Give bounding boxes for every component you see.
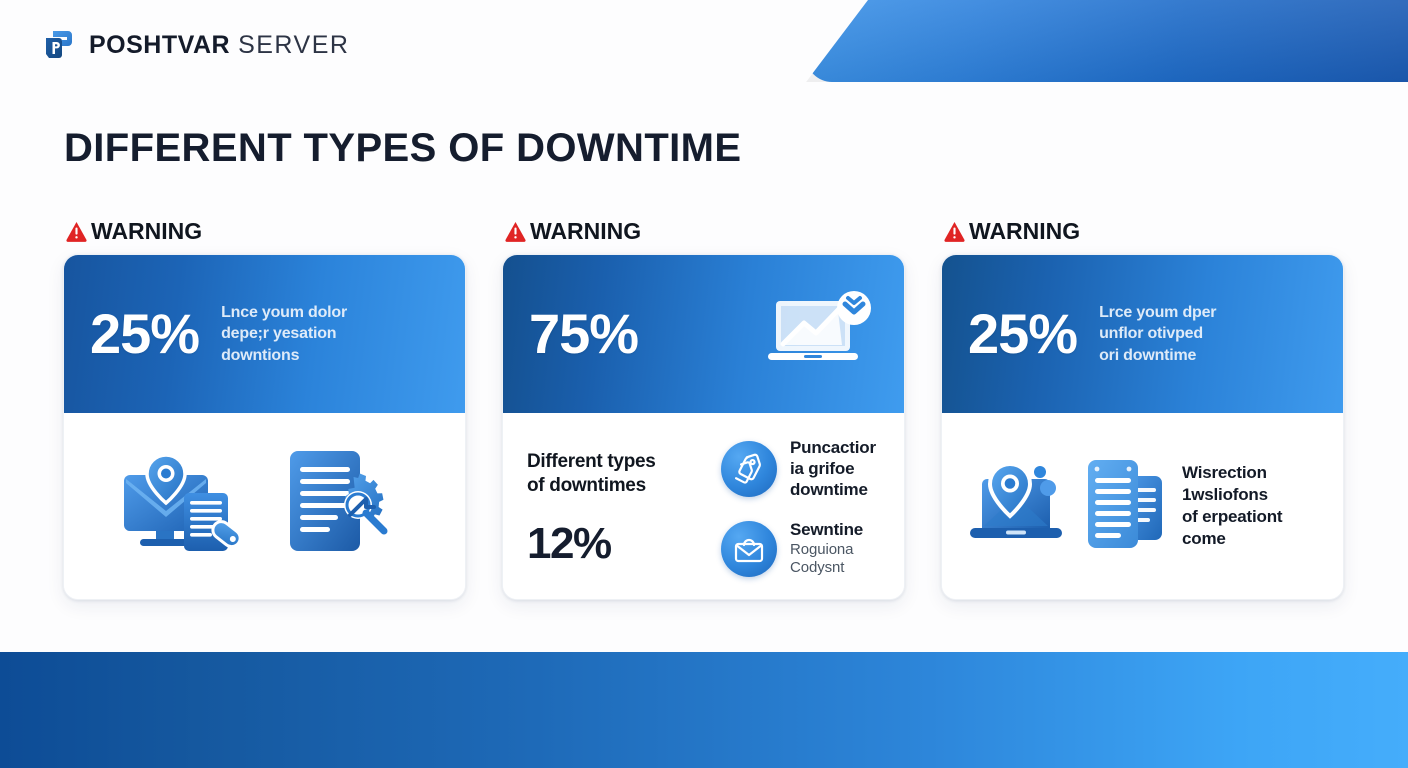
card-header-copy-1: Lnce youm dolor depe;r yesation downtion… bbox=[221, 302, 347, 365]
downtime-card-2[interactable]: 75% bbox=[502, 254, 905, 600]
card-header-copy-3: Lrce youm dper unflor otivped ori downti… bbox=[1099, 302, 1216, 365]
list-item-title: ia grifoe bbox=[790, 459, 876, 480]
card-body-3: Wisrection 1wsliofons of erpeationt come bbox=[942, 413, 1343, 599]
card-percent-2: 75% bbox=[529, 306, 638, 362]
laptop-location-pin-icon bbox=[966, 456, 1070, 557]
laptop-chart-badge-icon bbox=[766, 289, 878, 380]
monitor-location-document-icon bbox=[118, 449, 250, 564]
list-item[interactable]: Puncactior ia grifoe downtime bbox=[721, 438, 880, 500]
card-column-2: WARNING 75% bbox=[502, 214, 905, 600]
envelope-icon bbox=[721, 521, 777, 577]
downtime-card-3[interactable]: 25% Lrce youm dper unflor otivped ori do… bbox=[941, 254, 1344, 600]
warning-label-3: WARNING bbox=[941, 214, 1344, 248]
warning-text: WARNING bbox=[969, 218, 1080, 245]
list-item-title: Sewntine bbox=[790, 520, 863, 541]
body-text-line: Wisrection bbox=[1182, 462, 1282, 484]
body-text-line: of erpeationt bbox=[1182, 506, 1282, 528]
card-body-text-3: Wisrection 1wsliofons of erpeationt come bbox=[1182, 462, 1282, 550]
head-line: Lrce youm dper bbox=[1099, 302, 1216, 323]
document-gear-search-icon bbox=[284, 445, 412, 568]
card-column-3: WARNING 25% Lrce youm dper unflor otivpe… bbox=[941, 214, 1344, 600]
warning-label-2: WARNING bbox=[502, 214, 905, 248]
card-header-2: 75% bbox=[503, 255, 904, 413]
mid-right-list: Puncactior ia grifoe downtime bbox=[721, 438, 880, 578]
head-line: ori downtime bbox=[1099, 345, 1216, 366]
list-item-title: Puncactior bbox=[790, 438, 876, 459]
warning-text: WARNING bbox=[530, 218, 641, 245]
card-body-1 bbox=[64, 413, 465, 599]
brand-logo[interactable]: POSHTVAR SERVER bbox=[42, 27, 349, 63]
list-item-sub: Codysnt bbox=[790, 559, 863, 577]
brand-name-light: SERVER bbox=[238, 31, 349, 60]
poshtvar-p-logo-icon bbox=[42, 27, 78, 63]
page-title: DIFFERENT TYPES OF DOWNTIME bbox=[64, 126, 741, 171]
head-line: depe;r yesation bbox=[221, 323, 347, 344]
list-item-sub: Roguiona bbox=[790, 541, 863, 559]
head-line: Lnce youm dolor bbox=[221, 302, 347, 323]
mid-heading-line: Different types bbox=[527, 450, 703, 474]
cards-row: WARNING 25% Lnce youm dolor depe;r yesat… bbox=[63, 214, 1345, 600]
warning-triangle-icon bbox=[943, 220, 966, 242]
card-percent-3: 25% bbox=[968, 306, 1077, 362]
mid-heading: Different types of downtimes bbox=[527, 450, 703, 497]
list-item[interactable]: Sewntine Roguiona Codysnt bbox=[721, 520, 880, 577]
head-line: unflor otivped bbox=[1099, 323, 1216, 344]
mid-left-block: Different types of downtimes 12% bbox=[527, 450, 703, 565]
body-text-line: come bbox=[1182, 528, 1282, 550]
body-text-line: 1wsliofons bbox=[1182, 484, 1282, 506]
warning-label-1: WARNING bbox=[63, 214, 466, 248]
top-right-banner-shape bbox=[806, 0, 1408, 82]
card-header-1: 25% Lnce youm dolor depe;r yesation down… bbox=[64, 255, 465, 413]
card-column-1: WARNING 25% Lnce youm dolor depe;r yesat… bbox=[63, 214, 466, 600]
brand-name: POSHTVAR SERVER bbox=[89, 31, 349, 60]
card-header-3: 25% Lrce youm dper unflor otivped ori do… bbox=[942, 255, 1343, 413]
warning-text: WARNING bbox=[91, 218, 202, 245]
card-percent-1: 25% bbox=[90, 306, 199, 362]
list-item-text: Puncactior ia grifoe downtime bbox=[790, 438, 876, 500]
downtime-card-1[interactable]: 25% Lnce youm dolor depe;r yesation down… bbox=[63, 254, 466, 600]
brand-name-bold: POSHTVAR bbox=[89, 31, 230, 60]
mid-sub-percent: 12% bbox=[527, 522, 703, 566]
bottom-gradient-bar bbox=[0, 652, 1408, 768]
warning-triangle-icon bbox=[504, 220, 527, 242]
warning-triangle-icon bbox=[65, 220, 88, 242]
tag-label-icon bbox=[721, 441, 777, 497]
list-item-title: downtime bbox=[790, 480, 876, 501]
card-body-2: Different types of downtimes 12% bbox=[503, 413, 904, 599]
infographic-slide: POSHTVAR SERVER DIFFERENT TYPES OF DOWNT… bbox=[0, 0, 1408, 768]
mid-heading-line: of downtimes bbox=[527, 474, 703, 498]
head-line: downtions bbox=[221, 345, 347, 366]
list-item-text: Sewntine Roguiona Codysnt bbox=[790, 520, 863, 577]
documents-stack-icon bbox=[1084, 454, 1168, 559]
